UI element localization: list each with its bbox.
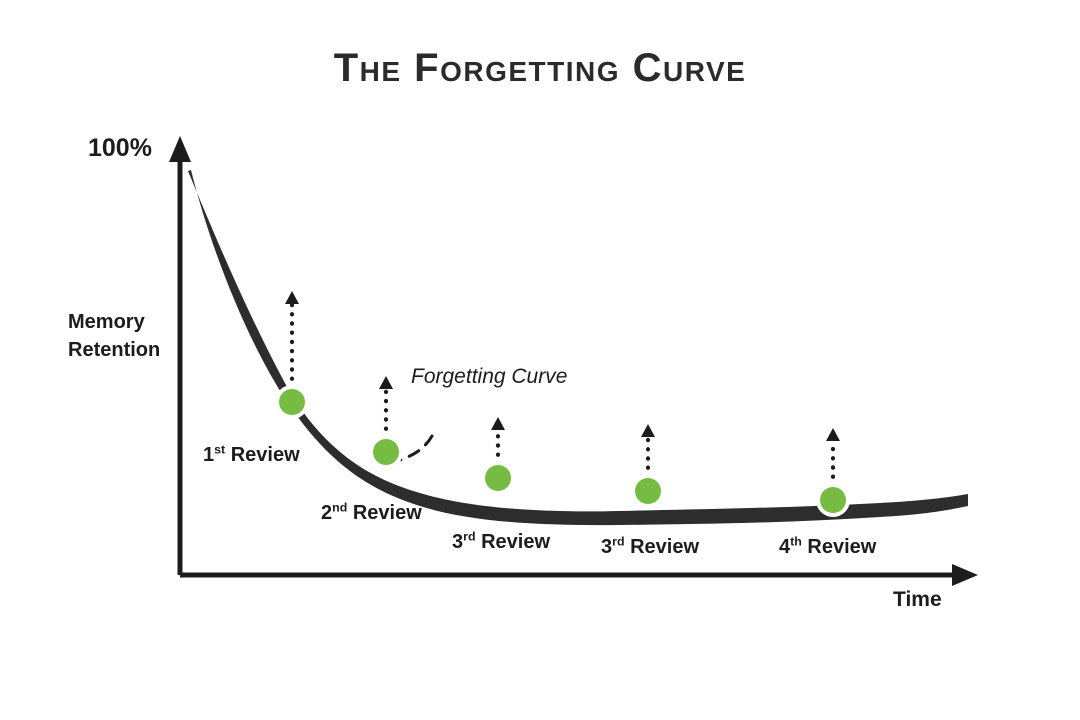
- review-marker-dot-5[interactable]: [820, 487, 846, 513]
- curve-canvas: [0, 0, 1080, 720]
- y-axis-arrowhead-icon: [169, 136, 191, 162]
- forgetting-curve-figure: The Forgetting Curve 100% Memory Retenti…: [0, 0, 1080, 720]
- review-arrow-head-icon-2: [379, 376, 393, 389]
- review-marker-dot-1[interactable]: [279, 389, 305, 415]
- review-marker-dot-3[interactable]: [485, 465, 511, 491]
- review-arrow-head-icon-3: [491, 417, 505, 430]
- review-marker-dot-2[interactable]: [373, 439, 399, 465]
- review-arrow-head-icon-4: [641, 424, 655, 437]
- review-marker-dot-4[interactable]: [635, 478, 661, 504]
- forgetting-curve-line: [188, 170, 968, 525]
- review-marker-layer: [275, 291, 850, 517]
- x-axis-arrowhead-icon: [952, 564, 978, 586]
- review-arrow-head-icon-5: [826, 428, 840, 441]
- y-axis: [169, 136, 191, 575]
- curve-ribbon: [188, 170, 968, 525]
- x-axis: [180, 564, 978, 586]
- review-arrow-head-icon-1: [285, 291, 299, 304]
